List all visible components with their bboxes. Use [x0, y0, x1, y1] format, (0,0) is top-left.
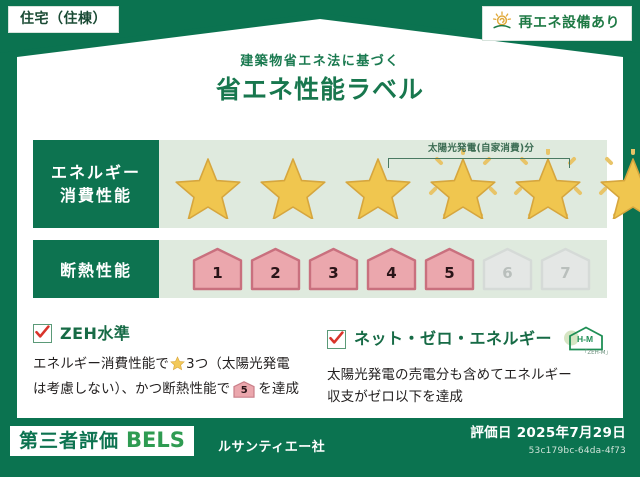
insulation-levels-panel: 1234567	[159, 240, 607, 298]
solar-generation-note: 太陽光発電(自家消費)分	[386, 140, 576, 154]
star-icon	[170, 356, 185, 379]
check-icon	[327, 330, 346, 349]
insulation-level-filled: 1	[191, 247, 244, 291]
criterion-zeh-header: ZEH水準	[33, 324, 311, 343]
insulation-level-filled: 3	[307, 247, 360, 291]
insulation-level-empty: 7	[539, 247, 592, 291]
zeh-text-part3: を達成	[258, 381, 299, 397]
svg-text:H-M: H-M	[577, 334, 593, 344]
zeh-m-logo-caption: 「ZEH-M」	[582, 348, 611, 356]
label-title-sub: 建築物省エネ法に基づく	[0, 55, 640, 68]
energy-performance-label-key: エネルギー 消費性能	[33, 140, 159, 228]
insulation-level-value: 5	[423, 247, 476, 291]
evaluator-company: ルサンティエー社	[218, 436, 325, 455]
building-type-tab: 住宅（住棟）	[8, 6, 119, 33]
check-icon	[33, 324, 52, 343]
insulation-level-empty: 6	[481, 247, 534, 291]
criterion-nze-description: 太陽光発電の売電分も含めてエネルギー収支がゼロ以下を達成	[327, 365, 617, 409]
insulation-level-filled: 2	[249, 247, 302, 291]
insulation-level-value: 1	[191, 247, 244, 291]
sun-solar-icon	[491, 11, 513, 35]
criterion-nze-header: ネット・ゼロ・エネルギー H-M 「ZEH-M」	[327, 324, 617, 354]
insulation-badge-value: 5	[233, 381, 255, 398]
insulation-level-value: 7	[539, 247, 592, 291]
insulation-level-filled: 4	[365, 247, 418, 291]
energy-key-line1: エネルギー	[51, 161, 141, 184]
insulation-badge-icon: 5	[233, 381, 255, 398]
insulation-level-value: 3	[307, 247, 360, 291]
insulation-label-key: 断熱性能	[33, 240, 159, 298]
evaluation-date-block: 評価日 2025年7月29日 53c179bc-64da-4f73	[470, 427, 626, 456]
star-icon-solar	[597, 140, 640, 228]
document-id: 53c179bc-64da-4f73	[470, 447, 626, 456]
energy-key-line2: 消費性能	[60, 184, 132, 207]
criterion-zeh-title: ZEH水準	[60, 326, 130, 342]
criterion-zeh-description: エネルギー消費性能で3つ（太陽光発電は考慮しない）、かつ断熱性能で5を達成	[33, 354, 311, 401]
nze-text-part1: 太陽光発電の売電分も含めてエネルギー	[327, 367, 572, 383]
insulation-level-value: 4	[365, 247, 418, 291]
zeh-text-part2: は考慮しない）、かつ断熱性能で	[33, 381, 230, 397]
insulation-level-value: 2	[249, 247, 302, 291]
label-footer: 第三者評価 BELS ルサンティエー社 評価日 2025年7月29日 53c17…	[0, 418, 640, 477]
criterion-nze-title: ネット・ゼロ・エネルギー	[354, 331, 552, 347]
solar-generation-bracket	[388, 158, 570, 168]
label-title-block: 建築物省エネ法に基づく 省エネ性能ラベル	[0, 55, 640, 102]
zeh-text-part1: エネルギー消費性能で	[33, 356, 169, 372]
renewable-equipment-badge: 再エネ設備あり	[482, 6, 633, 41]
criterion-net-zero-energy: ネット・ゼロ・エネルギー H-M 「ZEH-M」 太陽光発電の売電分も含めてエネ…	[327, 324, 617, 409]
bels-badge: 第三者評価 BELS	[10, 426, 194, 456]
renewable-badge-label: 再エネ設備あり	[519, 16, 621, 30]
criterion-zeh: ZEH水準 エネルギー消費性能で3つ（太陽光発電は考慮しない）、かつ断熱性能で5…	[33, 324, 311, 401]
evaluation-date: 評価日 2025年7月29日	[470, 427, 626, 441]
insulation-level-scale: 1234567	[159, 240, 607, 298]
star-icon-filled	[172, 140, 244, 228]
star-icon-filled	[257, 140, 329, 228]
bels-badge-en: BELS	[126, 430, 185, 451]
insulation-level-value: 6	[481, 247, 534, 291]
zeh-text-stars: 3つ（太陽光発電	[186, 356, 290, 372]
insulation-level-filled: 5	[423, 247, 476, 291]
nze-text-part2: 収支がゼロ以下を達成	[327, 389, 463, 405]
insulation-performance-row: 断熱性能 1234567	[33, 240, 607, 298]
energy-performance-label: 住宅（住棟） 再エネ設備あり 建築物省エネ法に基づく 省エネ性能ラベル	[0, 0, 640, 477]
label-title-main: 省エネ性能ラベル	[0, 77, 640, 102]
bels-badge-jp: 第三者評価	[19, 432, 119, 451]
zeh-m-logo-icon: H-M 「ZEH-M」	[562, 324, 608, 354]
